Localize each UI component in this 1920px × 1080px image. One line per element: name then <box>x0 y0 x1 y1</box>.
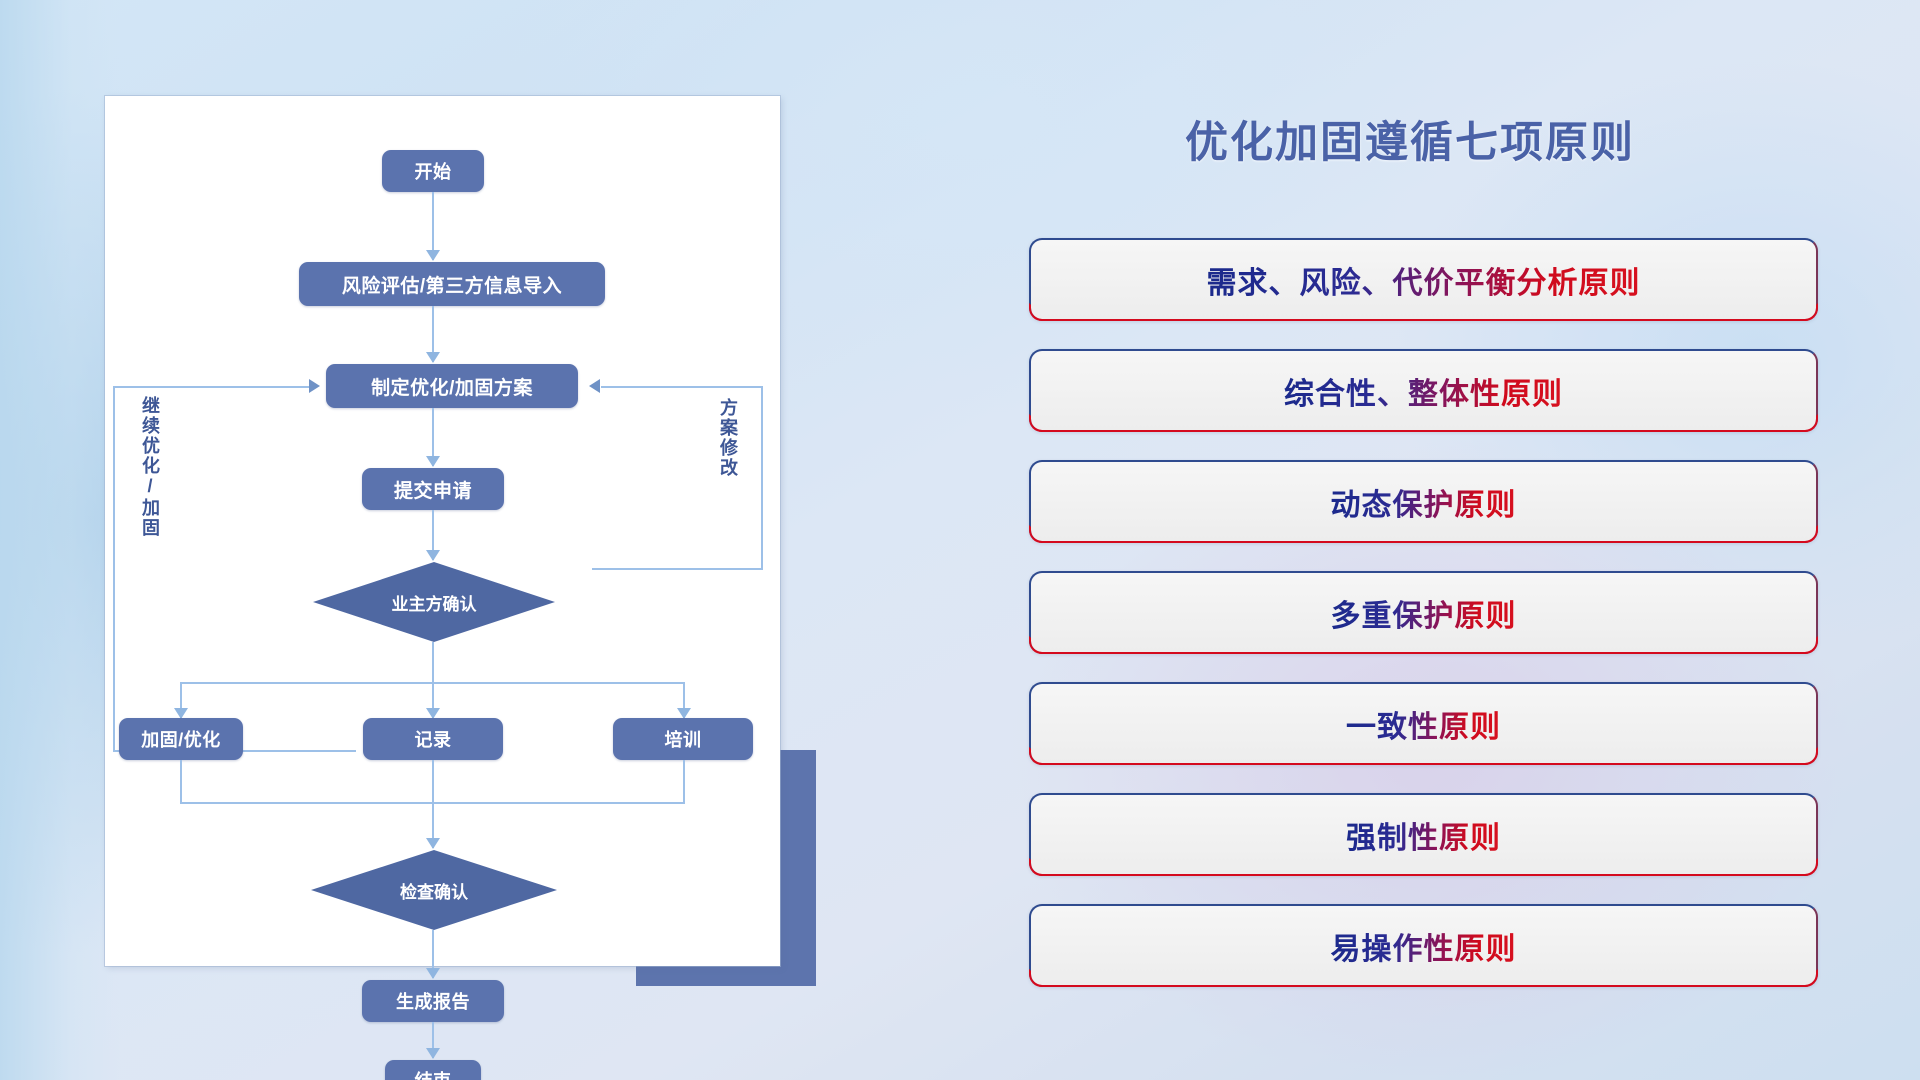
flow-node-end-label: 结束 <box>415 1067 452 1080</box>
flow-node-risk-assessment[interactable]: 风险评估/第三方信息导入 <box>299 262 605 306</box>
flowchart-diagram: 开始 风险评估/第三方信息导入 制定优化/加固方案 继续优化/加固 <box>105 96 780 966</box>
arrowhead-right-loop-into-plan <box>589 379 600 393</box>
connector-right-loop-bottom <box>592 568 763 570</box>
arrowhead-left-loop-into-plan <box>309 379 320 393</box>
flow-node-owner-confirm-label: 业主方确认 <box>392 590 477 615</box>
edge-label-plan-revision: 方案修改 <box>715 398 741 478</box>
flow-node-risk-assessment-label: 风险评估/第三方信息导入 <box>342 271 562 298</box>
connector-left-loop-top <box>113 386 309 388</box>
flow-node-training-label: 培训 <box>665 726 702 752</box>
flow-node-inspection-confirm[interactable]: 检查确认 <box>311 850 557 930</box>
flow-node-owner-confirm[interactable]: 业主方确认 <box>313 562 555 642</box>
principle-card-5[interactable]: 一致性原则 <box>1029 682 1818 765</box>
flow-node-make-plan-label: 制定优化/加固方案 <box>371 373 533 400</box>
flow-node-generate-report-label: 生成报告 <box>396 988 470 1014</box>
arrowhead-check-to-report <box>426 968 440 979</box>
principle-card-7-label: 易操作性原则 <box>1331 924 1517 968</box>
connector-merge-to-check <box>432 760 434 848</box>
principle-card-4-label: 多重保护原则 <box>1331 591 1517 635</box>
flow-node-make-plan[interactable]: 制定优化/加固方案 <box>326 364 578 408</box>
principle-card-4[interactable]: 多重保护原则 <box>1029 571 1818 654</box>
principle-card-6[interactable]: 强制性原则 <box>1029 793 1818 876</box>
flow-node-end[interactable]: 结束 <box>385 1060 481 1080</box>
flow-node-record-label: 记录 <box>415 726 452 752</box>
flow-node-start-label: 开始 <box>415 158 452 184</box>
principle-card-6-label: 强制性原则 <box>1346 813 1501 857</box>
principle-card-1[interactable]: 需求、风险、代价平衡分析原则 <box>1029 238 1818 321</box>
principle-card-2-label: 综合性、整体性原则 <box>1284 369 1563 413</box>
flow-node-submit-application[interactable]: 提交申请 <box>362 468 504 510</box>
flow-node-reinforce-optimize-label: 加固/优化 <box>141 726 221 752</box>
arrowhead-risk-to-plan <box>426 352 440 363</box>
flow-node-training[interactable]: 培训 <box>613 718 753 760</box>
flow-node-submit-application-label: 提交申请 <box>394 476 472 503</box>
principle-card-3-label: 动态保护原则 <box>1331 480 1517 524</box>
principle-card-5-label: 一致性原则 <box>1346 702 1501 746</box>
connector-right-loop-vertical <box>761 386 763 570</box>
connector-left-loop-vertical <box>113 386 115 752</box>
principle-card-1-label: 需求、风险、代价平衡分析原则 <box>1207 258 1641 302</box>
connector-owner-to-bus <box>432 642 434 682</box>
principle-card-2[interactable]: 综合性、整体性原则 <box>1029 349 1818 432</box>
flow-node-generate-report[interactable]: 生成报告 <box>362 980 504 1022</box>
arrowhead-report-to-end <box>426 1048 440 1059</box>
slide-canvas: 开始 风险评估/第三方信息导入 制定优化/加固方案 继续优化/加固 <box>0 0 1920 1080</box>
arrowhead-submit-to-owner <box>426 550 440 561</box>
flow-node-record[interactable]: 记录 <box>363 718 503 760</box>
edge-label-continue-optimize: 继续优化/加固 <box>137 396 163 538</box>
arrowhead-start-to-risk <box>426 250 440 261</box>
flow-node-start[interactable]: 开始 <box>382 150 484 192</box>
flow-node-reinforce-optimize[interactable]: 加固/优化 <box>119 718 243 760</box>
connector-right-loop-top <box>601 386 763 388</box>
arrowhead-plan-to-submit <box>426 456 440 467</box>
principle-card-3[interactable]: 动态保护原则 <box>1029 460 1818 543</box>
principles-list: 需求、风险、代价平衡分析原则 综合性、整体性原则 动态保护原则 多重保护原则 一… <box>1029 238 1818 1015</box>
principle-card-7[interactable]: 易操作性原则 <box>1029 904 1818 987</box>
connector-train-to-merge <box>683 760 685 802</box>
flow-node-inspection-confirm-label: 检查确认 <box>400 878 468 903</box>
flowchart-card: 开始 风险评估/第三方信息导入 制定优化/加固方案 继续优化/加固 <box>105 96 780 966</box>
connector-reinforce-to-merge <box>180 760 182 802</box>
arrowhead-merge-to-check <box>426 838 440 849</box>
panel-title: 优化加固遵循七项原则 <box>1030 108 1790 170</box>
